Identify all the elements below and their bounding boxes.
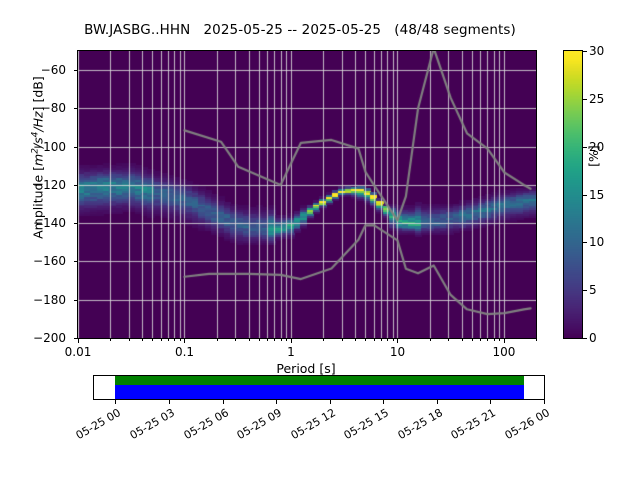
x-tick-minor — [259, 339, 260, 341]
x-tick-minor — [462, 339, 463, 341]
x-tick-minor — [381, 339, 382, 341]
x-tick-minor — [142, 339, 143, 341]
data-coverage-green — [115, 376, 524, 385]
x-tick-minor — [161, 339, 162, 341]
coverage-tick-mark — [437, 400, 438, 404]
x-tick-minor — [286, 339, 287, 341]
y-axis-label: Amplitude [m2/s4/Hz] [dB] — [30, 28, 45, 288]
x-tick-major — [184, 339, 185, 343]
x-tick-minor — [494, 339, 495, 341]
colorbar-tick-label: 15 — [589, 189, 629, 201]
colorbar-tick-mark — [583, 195, 587, 196]
y-tick-mark — [74, 338, 78, 339]
coverage-tick-mark — [115, 400, 116, 404]
colorbar-tick-mark — [583, 338, 587, 339]
x-tick-label: 10 — [367, 346, 427, 358]
x-tick-minor — [235, 339, 236, 341]
x-tick-minor — [323, 339, 324, 341]
x-tick-label: 1 — [261, 346, 321, 358]
coverage-tick-label: 05-26 00 — [487, 407, 551, 451]
colorbar-tick-mark — [583, 290, 587, 291]
colorbar-tick-label: 5 — [589, 284, 629, 296]
x-tick-minor — [174, 339, 175, 341]
x-tick-minor — [448, 339, 449, 341]
colorbar-label: [%] — [586, 126, 601, 186]
x-tick-minor — [480, 339, 481, 341]
coverage-tick-mark — [276, 400, 277, 404]
colorbar-tick-label: 0 — [589, 332, 629, 344]
x-tick-minor — [387, 339, 388, 341]
colorbar-gradient — [564, 51, 582, 338]
y-tick-label: −180 — [6, 294, 66, 306]
colorbar — [563, 50, 583, 339]
colorbar-tick-mark — [583, 51, 587, 52]
x-tick-minor — [472, 339, 473, 341]
y-tick-mark — [74, 70, 78, 71]
x-tick-minor — [217, 339, 218, 341]
x-tick-minor — [487, 339, 488, 341]
y-tick-mark — [74, 147, 78, 148]
x-tick-minor — [393, 339, 394, 341]
coverage-tick-mark — [383, 400, 384, 404]
colorbar-tick-mark — [583, 242, 587, 243]
y-tick-mark — [74, 261, 78, 262]
x-tick-minor — [536, 339, 537, 341]
x-tick-minor — [267, 339, 268, 341]
x-tick-minor — [430, 339, 431, 341]
coverage-tick-mark — [223, 400, 224, 404]
coverage-tick-mark — [169, 400, 170, 404]
y-tick-label: −200 — [6, 332, 66, 344]
axis-decorations: −60−80−100−120−140−160−180−2000.010.1110… — [0, 0, 640, 480]
data-coverage-blue — [115, 385, 524, 399]
x-tick-minor — [281, 339, 282, 341]
x-tick-minor — [168, 339, 169, 341]
colorbar-tick-label: 25 — [589, 93, 629, 105]
ppsd-figure: BW.JASBG..HHN 2025-05-25 -- 2025-05-25 (… — [0, 0, 640, 480]
colorbar-tick-label: 30 — [589, 45, 629, 57]
x-tick-minor — [110, 339, 111, 341]
x-tick-minor — [249, 339, 250, 341]
x-tick-major — [397, 339, 398, 343]
y-tick-mark — [74, 185, 78, 186]
coverage-tick-mark — [490, 400, 491, 404]
x-tick-major — [291, 339, 292, 343]
x-tick-minor — [355, 339, 356, 341]
colorbar-tick-label: 10 — [589, 236, 629, 248]
x-tick-minor — [365, 339, 366, 341]
x-tick-label: 100 — [474, 346, 534, 358]
x-tick-minor — [180, 339, 181, 341]
coverage-tick-mark — [544, 400, 545, 404]
x-tick-major — [504, 339, 505, 343]
x-tick-minor — [152, 339, 153, 341]
coverage-tick-mark — [330, 400, 331, 404]
data-coverage-plot — [93, 375, 545, 400]
x-tick-label: 0.01 — [48, 346, 108, 358]
x-tick-minor — [129, 339, 130, 341]
x-tick-label: 0.1 — [154, 346, 214, 358]
coverage-tick-label: 05-25 03 — [112, 407, 176, 451]
x-tick-minor — [274, 339, 275, 341]
y-tick-mark — [74, 300, 78, 301]
colorbar-tick-mark — [583, 99, 587, 100]
x-tick-minor — [374, 339, 375, 341]
x-tick-major — [78, 339, 79, 343]
x-tick-minor — [342, 339, 343, 341]
x-axis-label: Period [s] — [77, 361, 535, 376]
x-tick-minor — [499, 339, 500, 341]
y-tick-mark — [74, 108, 78, 109]
y-tick-mark — [74, 223, 78, 224]
